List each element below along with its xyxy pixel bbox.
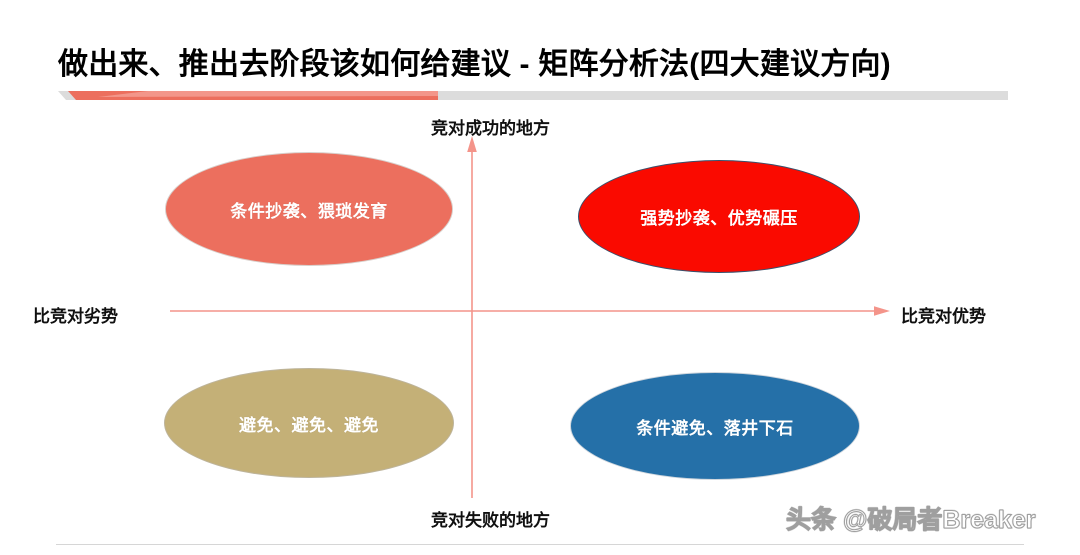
horizontal-axis: [170, 305, 890, 317]
axis-label-top: 竞对成功的地方: [431, 114, 550, 139]
quadrant-label-top-right: 强势抄袭、优势碾压: [640, 204, 798, 229]
footer-divider: [56, 544, 1024, 545]
page-title: 做出来、推出去阶段该如何给建议 - 矩阵分析法(四大建议方向): [58, 39, 891, 83]
quadrant-label-top-left: 条件抄袭、猥琐发育: [230, 197, 388, 222]
quadrant-bubble-top-right[interactable]: 强势抄袭、优势碾压: [578, 160, 860, 273]
quadrant-bubble-bottom-right[interactable]: 条件避免、落井下石: [570, 372, 860, 480]
quadrant-bubble-top-left[interactable]: 条件抄袭、猥琐发育: [165, 152, 453, 266]
quadrant-label-bottom-left: 避免、避免、避免: [239, 411, 379, 436]
vertical-axis: [466, 136, 478, 498]
slide-canvas: 做出来、推出去阶段该如何给建议 - 矩阵分析法(四大建议方向) 竞对成功的地方 …: [0, 0, 1080, 555]
vertical-axis-arrow-icon: [466, 136, 478, 498]
title-accent-bar: [58, 89, 1008, 100]
title-accent-bar-graphic: [58, 89, 1008, 100]
quadrant-bubble-bottom-left[interactable]: 避免、避免、避免: [164, 368, 454, 478]
axis-label-bottom: 竞对失败的地方: [431, 506, 550, 531]
watermark: 头条 @破局者Breaker: [786, 500, 1035, 536]
axis-label-left: 比竞对劣势: [33, 302, 118, 327]
axis-label-right: 比竞对优势: [901, 302, 986, 327]
quadrant-label-bottom-right: 条件避免、落井下石: [636, 414, 794, 439]
horizontal-axis-arrow-icon: [170, 305, 890, 317]
